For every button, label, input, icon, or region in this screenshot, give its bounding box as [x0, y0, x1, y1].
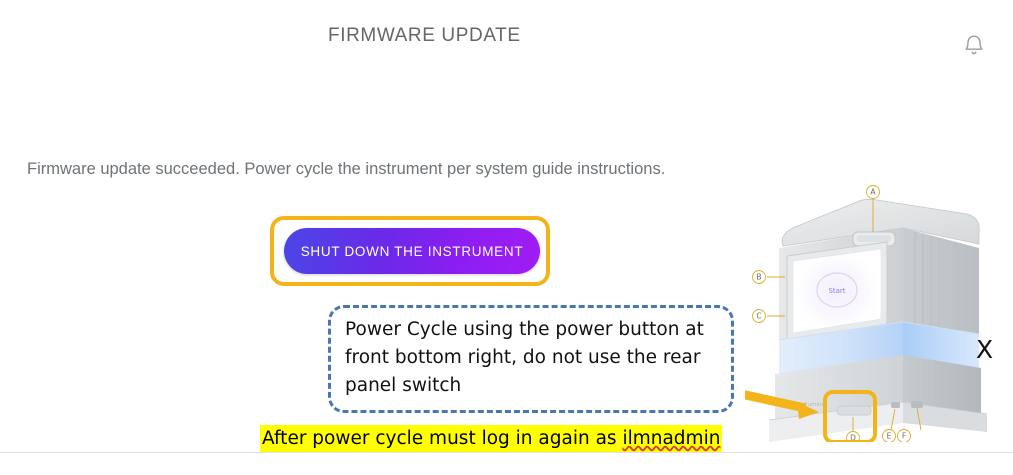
instrument-callout-c: C	[756, 312, 761, 321]
instrument-screen-start-label: Start	[828, 287, 845, 295]
login-note-username: ilmnadmin	[622, 428, 720, 449]
instrument-callout-f: F	[902, 432, 906, 441]
power-cycle-callout-text: Power Cycle using the power button at fr…	[345, 316, 725, 400]
instrument-callout-e: E	[887, 432, 892, 441]
instrument-callout-b: B	[756, 273, 761, 282]
page-title: FIRMWARE UPDATE	[328, 25, 521, 47]
login-note-annotation: After power cycle must log in again as i…	[260, 425, 722, 452]
instrument-illustration: Start illumina A	[745, 180, 1013, 442]
login-note-prefix: After power cycle must log in again as	[262, 428, 622, 449]
instrument-callout-a: A	[870, 188, 876, 197]
app-header: FIRMWARE UPDATE	[0, 0, 1013, 82]
x-marker-annotation: X	[976, 337, 993, 362]
power-cycle-callout: Power Cycle using the power button at fr…	[328, 305, 734, 413]
shutdown-instrument-button[interactable]: SHUT DOWN THE INSTRUMENT	[284, 228, 540, 274]
status-message: Firmware update succeeded. Power cycle t…	[27, 160, 665, 179]
footer-divider	[0, 452, 1013, 453]
bell-icon[interactable]	[958, 30, 990, 62]
